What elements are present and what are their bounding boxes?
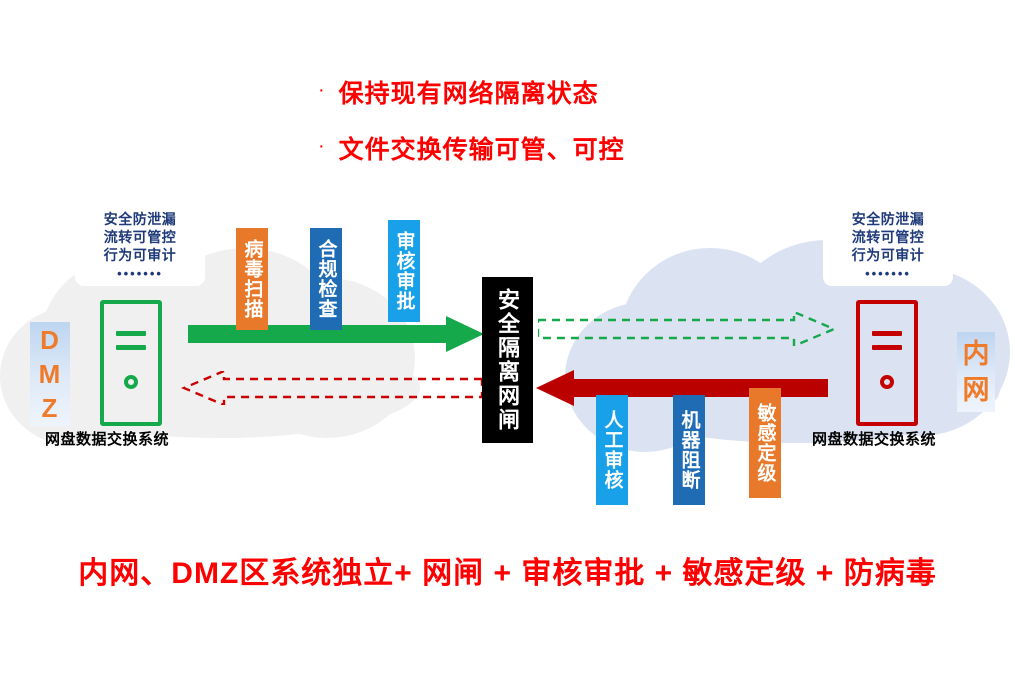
step-chip-label: 机器阻断 xyxy=(677,410,702,490)
callout-dots: ••••••• xyxy=(85,266,195,281)
callout-line: 流转可管控 xyxy=(85,228,195,246)
intranet-server-icon xyxy=(856,300,918,426)
step-chip-label: 人工审核 xyxy=(600,410,625,490)
server-bar-icon xyxy=(872,331,902,336)
step-chip-label: 审核审批 xyxy=(392,231,417,311)
bullet-list: · 保持现有网络隔离状态 · 文件交换传输可管、可控 xyxy=(318,74,625,186)
intranet-zone-char: 内 xyxy=(963,336,990,372)
callout-line: 流转可管控 xyxy=(833,228,943,246)
bullet-marker-icon: · xyxy=(318,136,325,156)
callout-line: 行为可审计 xyxy=(85,246,195,264)
dmz-zone-label: D M Z xyxy=(30,322,70,426)
bullet-item: · 保持现有网络隔离状态 xyxy=(318,74,625,110)
security-gateway-box[interactable]: 安全隔离网闸 xyxy=(482,277,533,443)
dmz-zone-char: M xyxy=(39,357,62,391)
intranet-callout: 安全防泄漏 流转可管控 行为可审计 ••••••• xyxy=(823,203,953,286)
step-chip-label: 敏感定级 xyxy=(753,403,778,483)
server-bar-icon xyxy=(872,345,902,350)
callout-line: 安全防泄漏 xyxy=(85,210,195,228)
server-bar-icon xyxy=(116,345,146,350)
dmz-zone-char: D xyxy=(40,323,60,357)
inbound-dashed-arrow xyxy=(180,371,482,405)
intranet-zone-label: 内 网 xyxy=(957,332,995,412)
dmz-server-icon xyxy=(100,300,162,426)
step-chip-sensitivity-grading[interactable]: 敏感定级 xyxy=(749,388,781,498)
step-chip-compliance-check[interactable]: 合规检查 xyxy=(310,228,342,330)
dmz-zone-char: Z xyxy=(42,391,59,425)
server-power-icon xyxy=(880,375,894,389)
step-chip-label: 合规检查 xyxy=(314,239,339,319)
step-chip-machine-block[interactable]: 机器阻断 xyxy=(673,395,705,505)
summary-text: 内网、DMZ区系统独立+ 网闸 + 审核审批 + 敏感定级 + 防病毒 xyxy=(0,548,1015,592)
dmz-server-caption: 网盘数据交换系统 xyxy=(45,428,169,449)
callout-line: 行为可审计 xyxy=(833,246,943,264)
security-gateway-label: 安全隔离网闸 xyxy=(494,288,521,432)
intranet-zone-char: 网 xyxy=(963,372,990,408)
step-chip-label: 病毒扫描 xyxy=(240,239,265,319)
server-power-icon xyxy=(124,375,138,389)
step-chip-review-approval[interactable]: 审核审批 xyxy=(388,220,420,322)
dmz-callout: 安全防泄漏 流转可管控 行为可审计 ••••••• xyxy=(75,203,205,286)
diagram-canvas: · 保持现有网络隔离状态 · 文件交换传输可管、可控 安全防泄漏 流转可管控 行… xyxy=(0,0,1015,675)
callout-dots: ••••••• xyxy=(833,266,943,281)
intranet-server-caption: 网盘数据交换系统 xyxy=(812,428,936,449)
intranet-outbound-dashed-arrow xyxy=(538,312,838,346)
bullet-marker-icon: · xyxy=(318,80,325,100)
callout-line: 安全防泄漏 xyxy=(833,210,943,228)
bullet-item: · 文件交换传输可管、可控 xyxy=(318,130,625,166)
step-chip-manual-review[interactable]: 人工审核 xyxy=(596,395,628,505)
step-chip-virus-scan[interactable]: 病毒扫描 xyxy=(236,228,268,330)
bullet-text: 文件交换传输可管、可控 xyxy=(339,130,625,166)
server-bar-icon xyxy=(116,331,146,336)
bullet-text: 保持现有网络隔离状态 xyxy=(339,74,599,110)
